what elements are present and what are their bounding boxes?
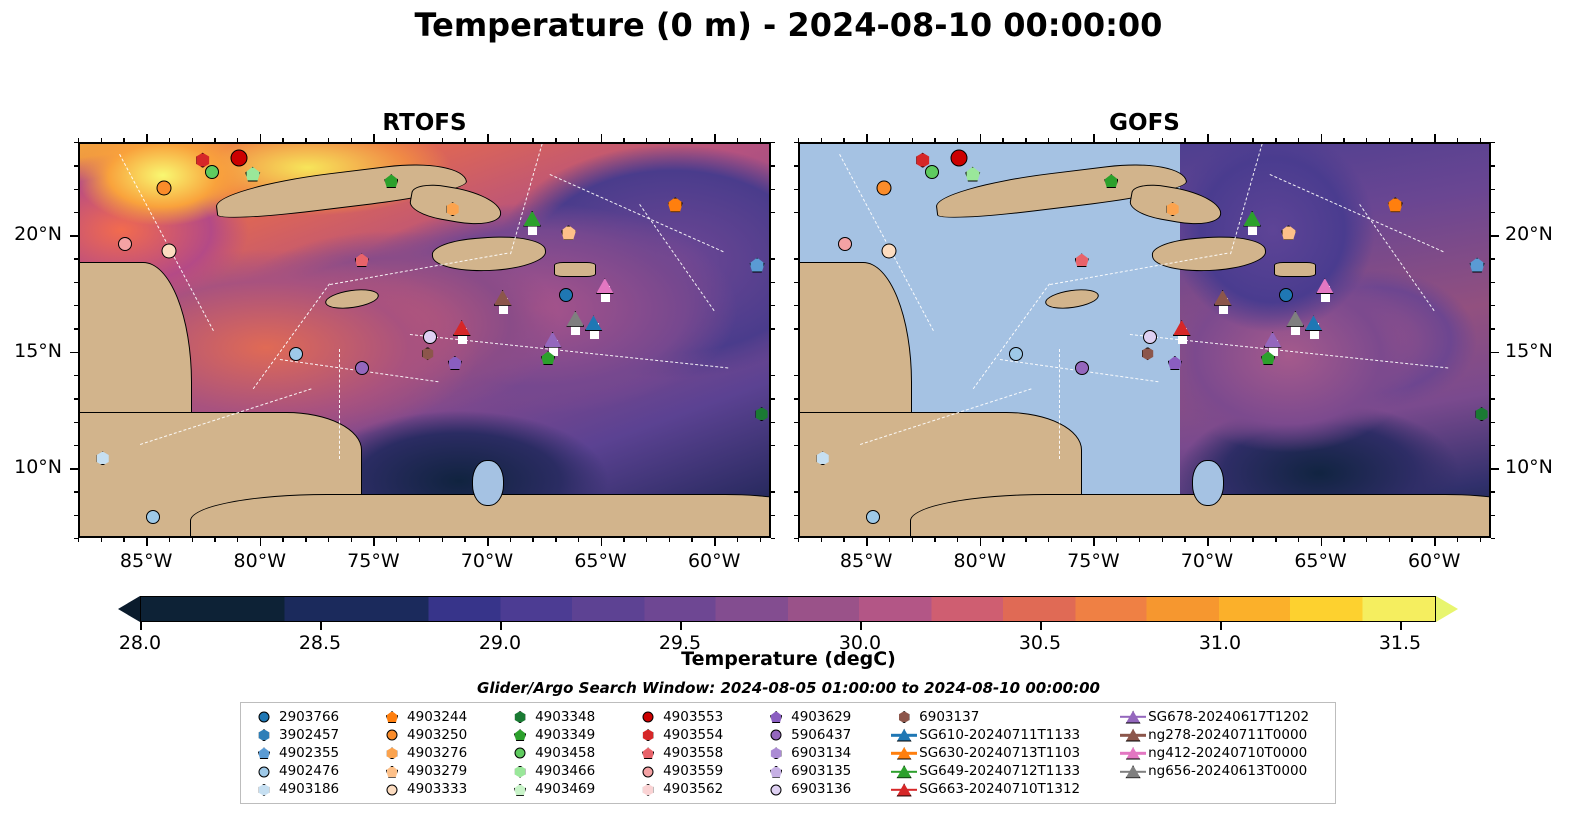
- legend-item-label: 4903629: [791, 709, 851, 726]
- map-marker-circle[interactable]: [423, 330, 437, 344]
- x-axis-tick: [1207, 538, 1209, 546]
- x-axis-minor-tick-top: [1116, 138, 1117, 142]
- legend-item[interactable]: 4903458: [507, 744, 613, 762]
- x-axis-tick: [1434, 538, 1436, 546]
- x-axis-minor-tick: [760, 538, 761, 542]
- map-marker-circle[interactable]: [951, 149, 968, 166]
- legend-marker-pent: [379, 763, 405, 780]
- legend-item-label: 6903134: [791, 745, 851, 762]
- legend-item[interactable]: 4903250: [379, 726, 485, 744]
- y-axis-label: 15°N: [0, 340, 62, 362]
- y-axis-minor-tick: [1491, 375, 1495, 376]
- x-axis-minor-tick-top: [305, 138, 306, 142]
- y-axis-minor-tick: [771, 212, 775, 213]
- legend-marker-shape: [770, 711, 782, 723]
- legend-marker-circle: [635, 763, 661, 780]
- legend-title: Glider/Argo Search Window: 2024-08-05 01…: [0, 679, 1577, 697]
- legend-box[interactable]: 2903766390245749023554902476490318649032…: [240, 702, 1336, 804]
- x-axis-tick: [146, 538, 148, 546]
- legend-marker-shape: [387, 730, 398, 741]
- x-axis-minor-tick: [169, 538, 170, 542]
- x-axis-minor-tick: [1025, 538, 1026, 542]
- legend-item[interactable]: SG678-20240617T1202: [1120, 708, 1327, 726]
- lake-maracaibo: [472, 460, 504, 506]
- y-axis-minor-tick: [771, 258, 775, 259]
- legend-item[interactable]: ng278-20240711T0000: [1120, 726, 1327, 744]
- legend-marker-pent: [507, 781, 533, 798]
- legend-item[interactable]: SG610-20240711T1133: [891, 726, 1098, 744]
- y-axis-minor-tick: [74, 515, 78, 516]
- legend-item[interactable]: 4903349: [507, 726, 613, 744]
- legend-item[interactable]: 6903134: [763, 744, 869, 762]
- legend-marker-shape: [514, 766, 526, 778]
- legend-column: 6903137SG610-20240711T1133SG630-20240713…: [891, 708, 1120, 799]
- legend-item[interactable]: 4903186: [251, 781, 357, 799]
- x-axis-minor-tick-top: [843, 138, 844, 142]
- x-axis-minor-tick-top: [510, 138, 511, 142]
- legend-marker-tri: [1120, 709, 1146, 726]
- legend-item[interactable]: 4903466: [507, 763, 613, 781]
- x-axis-minor-tick-top: [419, 138, 420, 142]
- legend-item[interactable]: SG649-20240712T1133: [891, 763, 1098, 781]
- x-axis-minor-tick-top: [555, 138, 556, 142]
- legend-marker-hex: [635, 727, 661, 744]
- x-axis-minor-tick: [669, 538, 670, 542]
- page-title: Temperature (0 m) - 2024-08-10 00:00:00: [0, 6, 1577, 44]
- panel-gofs: GOFS: [798, 142, 1491, 538]
- y-axis-minor-tick: [74, 258, 78, 259]
- x-axis-tick-top: [373, 134, 375, 142]
- legend-item[interactable]: 4903348: [507, 708, 613, 726]
- legend-marker-circle: [635, 709, 661, 726]
- map-marker-circle[interactable]: [161, 244, 176, 259]
- map-marker-circle[interactable]: [1143, 330, 1157, 344]
- legend-item-label: SG649-20240712T1133: [919, 763, 1080, 780]
- y-axis-minor-tick: [771, 375, 775, 376]
- legend-item-label: ng278-20240711T0000: [1148, 727, 1307, 744]
- x-axis-tick-top: [146, 134, 148, 142]
- map-marker-circle[interactable]: [877, 181, 892, 196]
- legend-item-label: 4903469: [535, 781, 595, 798]
- x-axis-minor-tick-top: [934, 138, 935, 142]
- colorbar-tick: [1220, 622, 1222, 630]
- legend-item[interactable]: 6903137: [891, 708, 1098, 726]
- legend-item-label: 4903562: [663, 781, 723, 798]
- colorbar-tick: [1040, 622, 1042, 630]
- legend-item[interactable]: 6903136: [763, 781, 869, 799]
- x-axis-minor-tick-top: [1457, 138, 1458, 142]
- y-axis-minor-tick: [794, 328, 798, 329]
- legend-item-label: ng412-20240710T0000: [1148, 745, 1307, 762]
- x-axis-minor-tick-top: [1162, 138, 1163, 142]
- y-axis-tick: [1491, 468, 1499, 470]
- land-puerto-rico: [554, 262, 596, 277]
- legend-marker-shape: [386, 747, 398, 759]
- legend-item-label: 4903553: [663, 709, 723, 726]
- legend-marker-tri: [1120, 727, 1146, 744]
- x-axis-minor-tick-top: [1343, 138, 1344, 142]
- x-axis-minor-tick: [214, 538, 215, 542]
- legend-item[interactable]: 4903553: [635, 708, 741, 726]
- x-axis-tick-top: [1434, 134, 1436, 142]
- map-marker-circle[interactable]: [881, 244, 896, 259]
- legend-item[interactable]: 5906437: [763, 726, 869, 744]
- legend-marker-hex: [379, 745, 405, 762]
- y-axis-tick: [1491, 235, 1499, 237]
- x-axis-minor-tick-top: [442, 138, 443, 142]
- colorbar-tick: [500, 622, 502, 630]
- legend-item[interactable]: 4903279: [379, 763, 485, 781]
- x-axis-minor-tick: [192, 538, 193, 542]
- y-axis-minor-tick: [771, 165, 775, 166]
- x-axis-minor-tick-top: [123, 138, 124, 142]
- x-axis-minor-tick-top: [1071, 138, 1072, 142]
- x-axis-minor-tick-top: [1230, 138, 1231, 142]
- y-axis-minor-tick: [771, 142, 775, 143]
- x-axis-tick-top: [866, 134, 868, 142]
- map-canvas-gofs[interactable]: [798, 142, 1491, 538]
- legend-item-label: 4903348: [535, 709, 595, 726]
- x-axis-minor-tick-top: [737, 138, 738, 142]
- y-axis-minor-tick: [1491, 142, 1495, 143]
- x-axis-minor-tick: [821, 538, 822, 542]
- x-axis-tick-top: [260, 134, 262, 142]
- legend-marker-shape: [642, 729, 654, 741]
- legend-marker-pent: [763, 709, 789, 726]
- legend-marker-circle: [251, 763, 277, 780]
- legend-marker-tri: [891, 745, 917, 762]
- legend-item[interactable]: ng412-20240710T0000: [1120, 744, 1327, 762]
- legend-item[interactable]: 4903469: [507, 781, 613, 799]
- y-axis-minor-tick: [771, 422, 775, 423]
- colorbar-gradient: [140, 596, 1436, 622]
- x-axis-label: 80°W: [935, 550, 1025, 572]
- y-axis-minor-tick: [1491, 491, 1495, 492]
- x-axis-tick-top: [601, 134, 603, 142]
- legend-item[interactable]: 4903276: [379, 744, 485, 762]
- x-axis-minor-tick: [737, 538, 738, 542]
- x-axis-minor-tick: [957, 538, 958, 542]
- map-marker-circle[interactable]: [146, 510, 160, 524]
- legend-marker-circle: [379, 781, 405, 798]
- legend-marker-shape: [643, 712, 654, 723]
- legend-marker-circle: [763, 727, 789, 744]
- legend-item[interactable]: 4902476: [251, 763, 357, 781]
- y-axis-tick: [70, 235, 78, 237]
- colorbar-tick: [140, 622, 142, 630]
- x-axis-minor-tick: [1048, 538, 1049, 542]
- legend-item[interactable]: 3902457: [251, 726, 357, 744]
- x-axis-minor-tick: [1184, 538, 1185, 542]
- legend-marker-tri: [891, 727, 917, 744]
- legend-marker-shape: [258, 747, 270, 759]
- x-axis-minor-tick: [934, 538, 935, 542]
- legend-marker-shape: [898, 711, 910, 723]
- legend-marker-tri: [891, 763, 917, 780]
- legend-marker-shape: [386, 766, 398, 778]
- y-axis-label: 10°N: [0, 456, 62, 478]
- y-axis-tick: [1491, 352, 1499, 354]
- x-axis-minor-tick-top: [912, 138, 913, 142]
- x-axis-minor-tick-top: [646, 138, 647, 142]
- legend-item-label: 4903250: [407, 727, 467, 744]
- x-axis-minor-tick: [1389, 538, 1390, 542]
- legend-item-label: SG610-20240711T1133: [919, 727, 1080, 744]
- legend-item-label: 6903135: [791, 763, 851, 780]
- x-axis-minor-tick: [555, 538, 556, 542]
- legend-marker-hex: [507, 709, 533, 726]
- legend-marker-shape: [387, 784, 398, 795]
- legend-item[interactable]: 2903766: [251, 708, 357, 726]
- legend-marker-circle: [507, 745, 533, 762]
- y-axis-minor-tick: [794, 282, 798, 283]
- y-axis-minor-tick: [74, 165, 78, 166]
- colorbar-tick: [860, 622, 862, 630]
- y-axis-minor-tick: [1491, 165, 1495, 166]
- x-axis-minor-tick: [396, 538, 397, 542]
- y-axis-minor-tick: [771, 491, 775, 492]
- legend-item[interactable]: 4903562: [635, 781, 741, 799]
- x-axis-minor-tick-top: [101, 138, 102, 142]
- x-axis-tick: [866, 538, 868, 546]
- x-axis-minor-tick-top: [464, 138, 465, 142]
- legend-item-label: 4903349: [535, 727, 595, 744]
- x-axis-minor-tick-top: [1275, 138, 1276, 142]
- y-axis-minor-tick: [794, 538, 798, 539]
- legend-item[interactable]: ng656-20240613T0000: [1120, 763, 1327, 781]
- y-axis-minor-tick: [74, 142, 78, 143]
- x-axis-tick-top: [714, 134, 716, 142]
- x-axis-minor-tick: [1480, 538, 1481, 542]
- y-axis-minor-tick: [1491, 212, 1495, 213]
- y-axis-label: 20°N: [0, 223, 62, 245]
- x-axis-minor-tick: [578, 538, 579, 542]
- legend-item[interactable]: 4903333: [379, 781, 485, 799]
- colorbar-tick: [680, 622, 682, 630]
- map-marker-circle[interactable]: [355, 361, 369, 375]
- colorbar[interactable]: 28.028.529.029.530.030.531.031.5: [118, 596, 1458, 622]
- map-marker-circle[interactable]: [866, 510, 880, 524]
- x-axis-minor-tick-top: [328, 138, 329, 142]
- eez-line: [339, 349, 340, 459]
- x-axis-minor-tick-top: [957, 138, 958, 142]
- x-axis-tick: [260, 538, 262, 546]
- y-axis-minor-tick: [794, 142, 798, 143]
- x-axis-label: 60°W: [1389, 550, 1479, 572]
- colorbar-tick: [320, 622, 322, 630]
- legend-marker-shape: [259, 766, 270, 777]
- y-axis-minor-tick: [74, 491, 78, 492]
- y-axis-minor-tick: [74, 328, 78, 329]
- x-axis-minor-tick-top: [1048, 138, 1049, 142]
- y-axis-minor-tick: [794, 212, 798, 213]
- x-axis-minor-tick: [1071, 538, 1072, 542]
- x-axis-minor-tick: [510, 538, 511, 542]
- x-axis-minor-tick-top: [282, 138, 283, 142]
- map-marker-circle[interactable]: [157, 181, 172, 196]
- legend-marker-circle: [763, 781, 789, 798]
- legend-item-label: 4902476: [279, 763, 339, 780]
- map-marker-circle[interactable]: [1279, 288, 1293, 302]
- y-axis-minor-tick: [794, 515, 798, 516]
- x-axis-minor-tick-top: [1025, 138, 1026, 142]
- y-axis-minor-tick: [1491, 422, 1495, 423]
- colorbar-tick: [1400, 622, 1402, 630]
- x-axis-minor-tick: [1252, 538, 1253, 542]
- x-axis-minor-tick: [1343, 538, 1344, 542]
- x-axis-minor-tick-top: [1389, 138, 1390, 142]
- x-axis-minor-tick: [123, 538, 124, 542]
- legend-item[interactable]: 4903558: [635, 744, 741, 762]
- x-axis-tick-top: [487, 134, 489, 142]
- legend-column: 49035534903554490355849035594903562: [635, 708, 763, 799]
- map-marker-circle[interactable]: [205, 165, 219, 179]
- map-marker-circle[interactable]: [118, 237, 132, 251]
- legend-column: 29037663902457490235549024764903186: [251, 708, 379, 799]
- x-axis-minor-tick: [305, 538, 306, 542]
- x-axis-minor-tick: [532, 538, 533, 542]
- x-axis-tick-top: [1207, 134, 1209, 142]
- colorbar-extend-low-arrow: [118, 596, 140, 622]
- y-axis-minor-tick: [1491, 305, 1495, 306]
- x-axis-minor-tick-top: [1411, 138, 1412, 142]
- y-axis-minor-tick: [771, 189, 775, 190]
- legend-item[interactable]: 4903244: [379, 708, 485, 726]
- y-axis-minor-tick: [771, 538, 775, 539]
- y-axis-minor-tick: [771, 398, 775, 399]
- map-marker-circle[interactable]: [559, 288, 573, 302]
- x-axis-tick: [1321, 538, 1323, 546]
- land-puerto-rico: [1274, 262, 1316, 277]
- x-axis-minor-tick: [1162, 538, 1163, 542]
- y-axis-minor-tick: [1491, 445, 1495, 446]
- y-axis-minor-tick: [771, 515, 775, 516]
- y-axis-minor-tick: [1491, 282, 1495, 283]
- legend-marker-hex: [251, 727, 277, 744]
- x-axis-minor-tick: [464, 538, 465, 542]
- legend-marker-shape: [514, 784, 526, 796]
- x-axis-minor-tick: [1275, 538, 1276, 542]
- legend-marker-hex: [251, 781, 277, 798]
- x-axis-minor-tick-top: [78, 138, 79, 142]
- map-marker-circle[interactable]: [838, 237, 852, 251]
- map-marker-circle[interactable]: [1009, 347, 1023, 361]
- x-axis-minor-tick: [1457, 538, 1458, 542]
- x-axis-minor-tick: [237, 538, 238, 542]
- x-axis-minor-tick-top: [1139, 138, 1140, 142]
- legend-column: SG678-20240617T1202ng278-20240711T0000ng…: [1120, 708, 1327, 799]
- legend-item[interactable]: 6903135: [763, 763, 869, 781]
- x-axis-label: 65°W: [1276, 550, 1366, 572]
- legend-item-label: 4903554: [663, 727, 723, 744]
- legend-marker-hex: [891, 709, 917, 726]
- x-axis-minor-tick: [1411, 538, 1412, 542]
- x-axis-minor-tick-top: [532, 138, 533, 142]
- lake-maracaibo: [1192, 460, 1224, 506]
- legend-item[interactable]: 4903559: [635, 763, 741, 781]
- legend-marker-pent: [507, 727, 533, 744]
- legend-marker-circle: [251, 709, 277, 726]
- x-axis-tick-top: [1321, 134, 1323, 142]
- x-axis-minor-tick-top: [889, 138, 890, 142]
- map-marker-circle[interactable]: [289, 347, 303, 361]
- y-axis-minor-tick: [794, 398, 798, 399]
- x-axis-minor-tick: [78, 538, 79, 542]
- legend-column: 49032444903250490327649032794903333: [379, 708, 507, 799]
- x-axis-minor-tick: [691, 538, 692, 542]
- x-axis-label: 70°W: [1162, 550, 1252, 572]
- legend-marker-shape: [770, 766, 782, 778]
- y-axis-minor-tick: [771, 328, 775, 329]
- legend-item-label: 4902355: [279, 745, 339, 762]
- legend-item[interactable]: SG630-20240713T1103: [891, 744, 1098, 762]
- x-axis-minor-tick-top: [578, 138, 579, 142]
- legend-marker-shape: [642, 747, 654, 759]
- legend-marker-tri: [1120, 763, 1146, 780]
- x-axis-minor-tick: [843, 538, 844, 542]
- map-marker-circle[interactable]: [1075, 361, 1089, 375]
- x-axis-label: 75°W: [1048, 550, 1138, 572]
- legend-item-label: 4903276: [407, 745, 467, 762]
- legend-marker-shape: [514, 711, 526, 723]
- colorbar-title: Temperature (degC): [0, 648, 1577, 670]
- y-axis-minor-tick: [771, 305, 775, 306]
- y-axis-minor-tick: [1491, 398, 1495, 399]
- y-axis-minor-tick: [1491, 189, 1495, 190]
- x-axis-minor-tick-top: [798, 138, 799, 142]
- x-axis-minor-tick-top: [691, 138, 692, 142]
- x-axis-label: 75°W: [328, 550, 418, 572]
- x-axis-tick: [714, 538, 716, 546]
- legend-item-label: 4903458: [535, 745, 595, 762]
- x-axis-minor-tick-top: [214, 138, 215, 142]
- map-marker-circle[interactable]: [925, 165, 939, 179]
- legend-item[interactable]: 4903554: [635, 726, 741, 744]
- y-axis-minor-tick: [794, 445, 798, 446]
- x-axis-tick-top: [1093, 134, 1095, 142]
- legend-item[interactable]: 4903629: [763, 708, 869, 726]
- map-canvas-rtofs[interactable]: [78, 142, 771, 538]
- x-axis-minor-tick: [1139, 538, 1140, 542]
- y-axis-minor-tick: [794, 189, 798, 190]
- x-axis-minor-tick: [889, 538, 890, 542]
- panel-rtofs: RTOFS: [78, 142, 771, 538]
- y-axis-minor-tick: [771, 445, 775, 446]
- x-axis-tick: [1093, 538, 1095, 546]
- x-axis-minor-tick-top: [351, 138, 352, 142]
- legend-item[interactable]: 4902355: [251, 744, 357, 762]
- legend-item-label: 3902457: [279, 727, 339, 744]
- y-axis-minor-tick: [74, 398, 78, 399]
- legend-item-label: 5906437: [791, 727, 851, 744]
- y-axis-minor-tick: [74, 189, 78, 190]
- legend-item-label: ng656-20240613T0000: [1148, 763, 1307, 780]
- legend-marker-tri: [891, 781, 917, 798]
- legend-marker-shape: [259, 712, 270, 723]
- map-marker-circle[interactable]: [231, 149, 248, 166]
- legend-marker-circle: [379, 727, 405, 744]
- y-axis-minor-tick: [794, 375, 798, 376]
- x-axis-minor-tick-top: [821, 138, 822, 142]
- x-axis-minor-tick: [442, 538, 443, 542]
- legend-item[interactable]: SG663-20240710T1312: [891, 781, 1098, 799]
- x-axis-label: 85°W: [821, 550, 911, 572]
- legend-marker-shape: [643, 766, 654, 777]
- y-axis-minor-tick: [794, 165, 798, 166]
- x-axis-tick: [487, 538, 489, 546]
- legend-marker-hex: [507, 763, 533, 780]
- y-axis-label: 20°N: [1505, 223, 1577, 245]
